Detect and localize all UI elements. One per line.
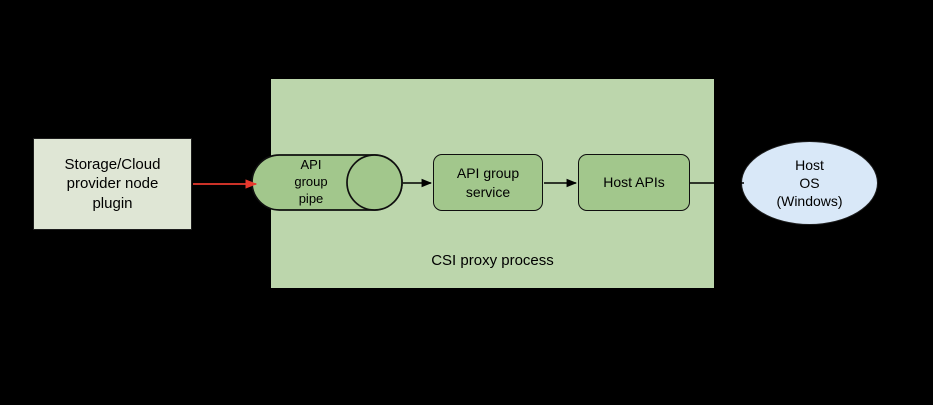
api-group-service-box[interactable] bbox=[433, 154, 543, 211]
storage-cloud-provider-node-plugin-box[interactable] bbox=[33, 138, 192, 230]
host-os-ellipse[interactable] bbox=[741, 141, 878, 225]
api-group-pipe-shape[interactable] bbox=[251, 154, 403, 211]
diagram-canvas: Storage/Cloud provider node plugin API g… bbox=[0, 0, 933, 405]
host-apis-box[interactable] bbox=[578, 154, 690, 211]
